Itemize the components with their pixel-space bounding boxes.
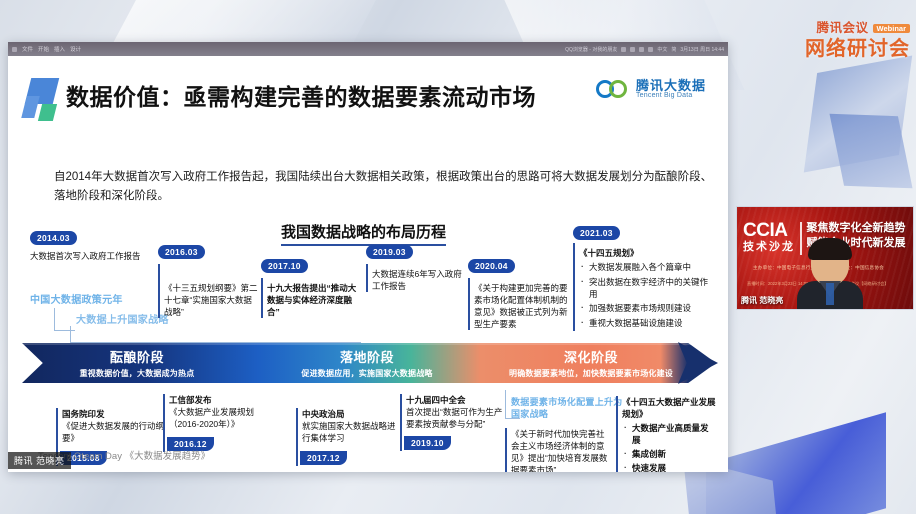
lower-card-text: 就实施国家大数据战略进行集体学习 xyxy=(302,420,401,444)
date-chip: 2019.03 xyxy=(366,245,413,259)
upper-card-text: 《关于构建更加完善的要素市场化配置体制机制的意见》数据被正式列为新型生产要素 xyxy=(468,278,568,330)
intro-paragraph: 自2014年大数据首次写入政府工作报告起，我国陆续出台大数据相关政策，根据政策出… xyxy=(54,168,714,206)
menu-item-3[interactable]: 设计 xyxy=(70,45,81,53)
upper-card-text: 十九大报告提出“推动大数据与实体经济深度融合” xyxy=(261,278,361,318)
slogan-line1: 聚焦数字化全新趋势 xyxy=(807,221,906,236)
upper-card-2020-04: 2020.04 《关于构建更加完善的要素市场化配置体制机制的意见》数据被正式列为… xyxy=(468,256,568,330)
connector-right xyxy=(505,390,520,419)
tray-ime-label[interactable]: 中文 xyxy=(657,46,667,53)
lower-card-title: 国务院印发 xyxy=(62,409,105,419)
phase-segment-1: 落地阶段 促进数据应用，实施国家大数据战略 xyxy=(252,343,482,383)
brand-meeting-label: 腾讯会议 xyxy=(817,22,869,35)
lower-card-2019-10: 十九届四中全会 首次提出“数据可作为生产要素按贡献参与分配” 2019.10 xyxy=(400,394,508,451)
infinity-icon xyxy=(596,78,630,100)
phase-segment-0: 酝酿阶段 重视数据价值，大数据成为热点 xyxy=(22,343,252,383)
phase-desc: 明确数据要素地位，加快数据要素市场化建设 xyxy=(509,368,673,379)
tray-icon-3[interactable] xyxy=(639,47,644,52)
lower-card-2017-12: 中央政治局 就实施国家大数据战略进行集体学习 2017.12 xyxy=(296,408,401,466)
phase-desc: 促进数据应用，实施国家大数据战略 xyxy=(301,368,432,379)
ppt-menubar[interactable]: 文件 开始 插入 设计 QQ浏览器 - 对我的朋友 中文 简 3月13日 周日 … xyxy=(8,42,728,56)
ppt-app-icon xyxy=(12,47,17,52)
phase-name: 落地阶段 xyxy=(340,347,394,366)
logo-text-en: Tencent Big Data xyxy=(636,92,706,99)
upper-card-text: 大数据首次写入政府工作报告 xyxy=(30,250,150,262)
phase-desc: 重视数据价值，大数据成为热点 xyxy=(80,368,195,379)
screen: 腾讯会议 Webinar 网络研讨会 文件 开始 插入 设计 QQ浏览器 - 对… xyxy=(0,0,916,514)
upper-card-text: 《十三五规划纲要》第二十七章“实施国家大数据战略” xyxy=(158,264,258,318)
participant-video-tile[interactable]: CCIA 技术沙龙 聚焦数字化全新趋势 赋能企业时代新发展 主办单位：中国电子信… xyxy=(736,206,914,310)
presenter-nametag: 腾讯 范晓亮 xyxy=(8,452,71,469)
bullet-2: 快速发展 xyxy=(632,462,716,472)
lower-card-2016-12: 工信部发布 《大数据产业发展规划（2016-2020年）》 2016.12 xyxy=(163,394,278,452)
callout-0: 中国大数据政策元年 xyxy=(30,294,170,308)
lower-card-2020-05: 《关于新时代加快完善社会主义市场经济体制的意见》提出“加快培育发展数据要素市场”… xyxy=(505,428,610,472)
webinar-brand: 腾讯会议 Webinar 网络研讨会 xyxy=(805,22,910,59)
participant-name-label: 腾讯 范晓亮 xyxy=(741,295,783,306)
phase-name: 深化阶段 xyxy=(564,347,618,366)
lower-card-text: 《促进大数据发展的行动纲要》 xyxy=(62,420,166,444)
shared-screen-window: 文件 开始 插入 设计 QQ浏览器 - 对我的朋友 中文 简 3月13日 周日 … xyxy=(8,42,728,472)
phase-segment-2: 深化阶段 明确数据要素地位，加快数据要素市场化建设 xyxy=(477,343,705,383)
bullet-3: 重视大数据基础设施建设 xyxy=(589,317,713,329)
logo-text-cn: 腾讯大数据 xyxy=(636,79,706,93)
taskbar-clock: 3月13日 周日 14:44 xyxy=(680,46,724,53)
lower-card-title: 工信部发布 xyxy=(169,395,212,405)
brand-event-label: 网络研讨会 xyxy=(805,39,910,59)
connector-left-2 xyxy=(70,326,361,343)
ccia-line1: CCIA xyxy=(743,221,795,240)
date-chip: 2020.04 xyxy=(468,259,515,273)
bullet-2: 加强数据要素市场规则建设 xyxy=(589,302,713,314)
lower-card-title: 《十四五大数据产业发展规划》 xyxy=(622,397,716,419)
ccia-line2: 技术沙龙 xyxy=(743,242,795,253)
lower-card-text: 《大数据产业发展规划（2016-2020年）》 xyxy=(169,406,278,430)
page-title: 数据价值：亟需构建完善的数据要素流动市场 xyxy=(66,78,536,112)
lower-card-title: 中央政治局 xyxy=(302,409,345,419)
upper-card-text: 大数据连续6年写入政府工作报告 xyxy=(366,264,464,292)
date-chip: 2017.12 xyxy=(300,451,347,465)
menubar-right-group[interactable]: QQ浏览器 - 对我的朋友 中文 简 3月13日 周日 14:44 xyxy=(565,46,724,53)
slide-logo-icon xyxy=(24,78,60,122)
date-chip: 2014.03 xyxy=(30,231,77,245)
menu-item-1[interactable]: 开始 xyxy=(38,45,49,53)
menu-item-2[interactable]: 插入 xyxy=(54,45,65,53)
date-chip: 2019.10 xyxy=(404,436,451,450)
lower-card-text: 首次提出“数据可作为生产要素按贡献参与分配” xyxy=(406,406,508,430)
date-chip: 2017.10 xyxy=(261,259,308,273)
menu-item-0[interactable]: 文件 xyxy=(22,45,33,53)
bullet-1: 集成创新 xyxy=(632,448,716,460)
date-chip: 2021.03 xyxy=(573,226,620,240)
brand-webinar-badge: Webinar xyxy=(873,24,910,34)
callout-2: 数据要素市场化配置上升为国家战略 xyxy=(511,396,626,420)
taskbar-browser-label[interactable]: QQ浏览器 - 对我的朋友 xyxy=(565,46,617,53)
lower-card-bullets: 大数据产业高质量发展 集成创新 快速发展 深度应用 结构优化 xyxy=(622,422,716,472)
menubar-left-group[interactable]: 文件 开始 插入 设计 xyxy=(12,45,81,53)
phase-arrow-bar: 酝酿阶段 重视数据价值，大数据成为热点 落地阶段 促进数据应用，实施国家大数据战… xyxy=(22,343,716,383)
date-chip: 2016.03 xyxy=(158,245,205,259)
bullet-0: 大数据产业高质量发展 xyxy=(632,422,716,446)
bullet-1: 突出数据在数字经济中的关键作用 xyxy=(589,276,713,300)
tencent-big-data-logo: 腾讯大数据 Tencent Big Data xyxy=(596,78,706,100)
upper-card-2016: 2016.03 《十三五规划纲要》第二十七章“实施国家大数据战略” xyxy=(158,242,258,318)
tray-ime-mode[interactable]: 简 xyxy=(671,46,676,53)
upper-card-2017: 2017.10 十九大报告提出“推动大数据与实体经济深度融合” xyxy=(261,256,361,318)
upper-card-bullets: 大数据发展融入各个篇章中 突出数据在数字经济中的关键作用 加强数据要素市场规则建… xyxy=(579,261,713,329)
lower-card-text: 《关于新时代加快完善社会主义市场经济体制的意见》提出“加快培育发展数据要素市场” xyxy=(511,428,610,472)
tray-icon-1[interactable] xyxy=(621,47,626,52)
slide-canvas: 数据价值：亟需构建完善的数据要素流动市场 腾讯大数据 Tencent Big D… xyxy=(8,56,728,472)
lower-card-title: 十九届四中全会 xyxy=(406,395,466,405)
participant-avatar xyxy=(797,241,863,309)
bullet-0: 大数据发展融入各个篇章中 xyxy=(589,261,713,273)
lower-card-2021-11: 《十四五大数据产业发展规划》 大数据产业高质量发展 集成创新 快速发展 深度应用… xyxy=(616,396,716,472)
upper-card-2014: 2014.03 大数据首次写入政府工作报告 xyxy=(30,228,150,262)
phase-name: 酝酿阶段 xyxy=(110,347,164,366)
upper-card-title: 《十四五规划》 xyxy=(579,248,639,258)
tray-icon-2[interactable] xyxy=(630,47,635,52)
upper-card-2019: 2019.03 大数据连续6年写入政府工作报告 xyxy=(366,242,464,292)
upper-card-2021-03: 2021.03 《十四五规划》 大数据发展融入各个篇章中 突出数据在数字经济中的… xyxy=(573,223,713,331)
tray-icon-4[interactable] xyxy=(648,47,653,52)
